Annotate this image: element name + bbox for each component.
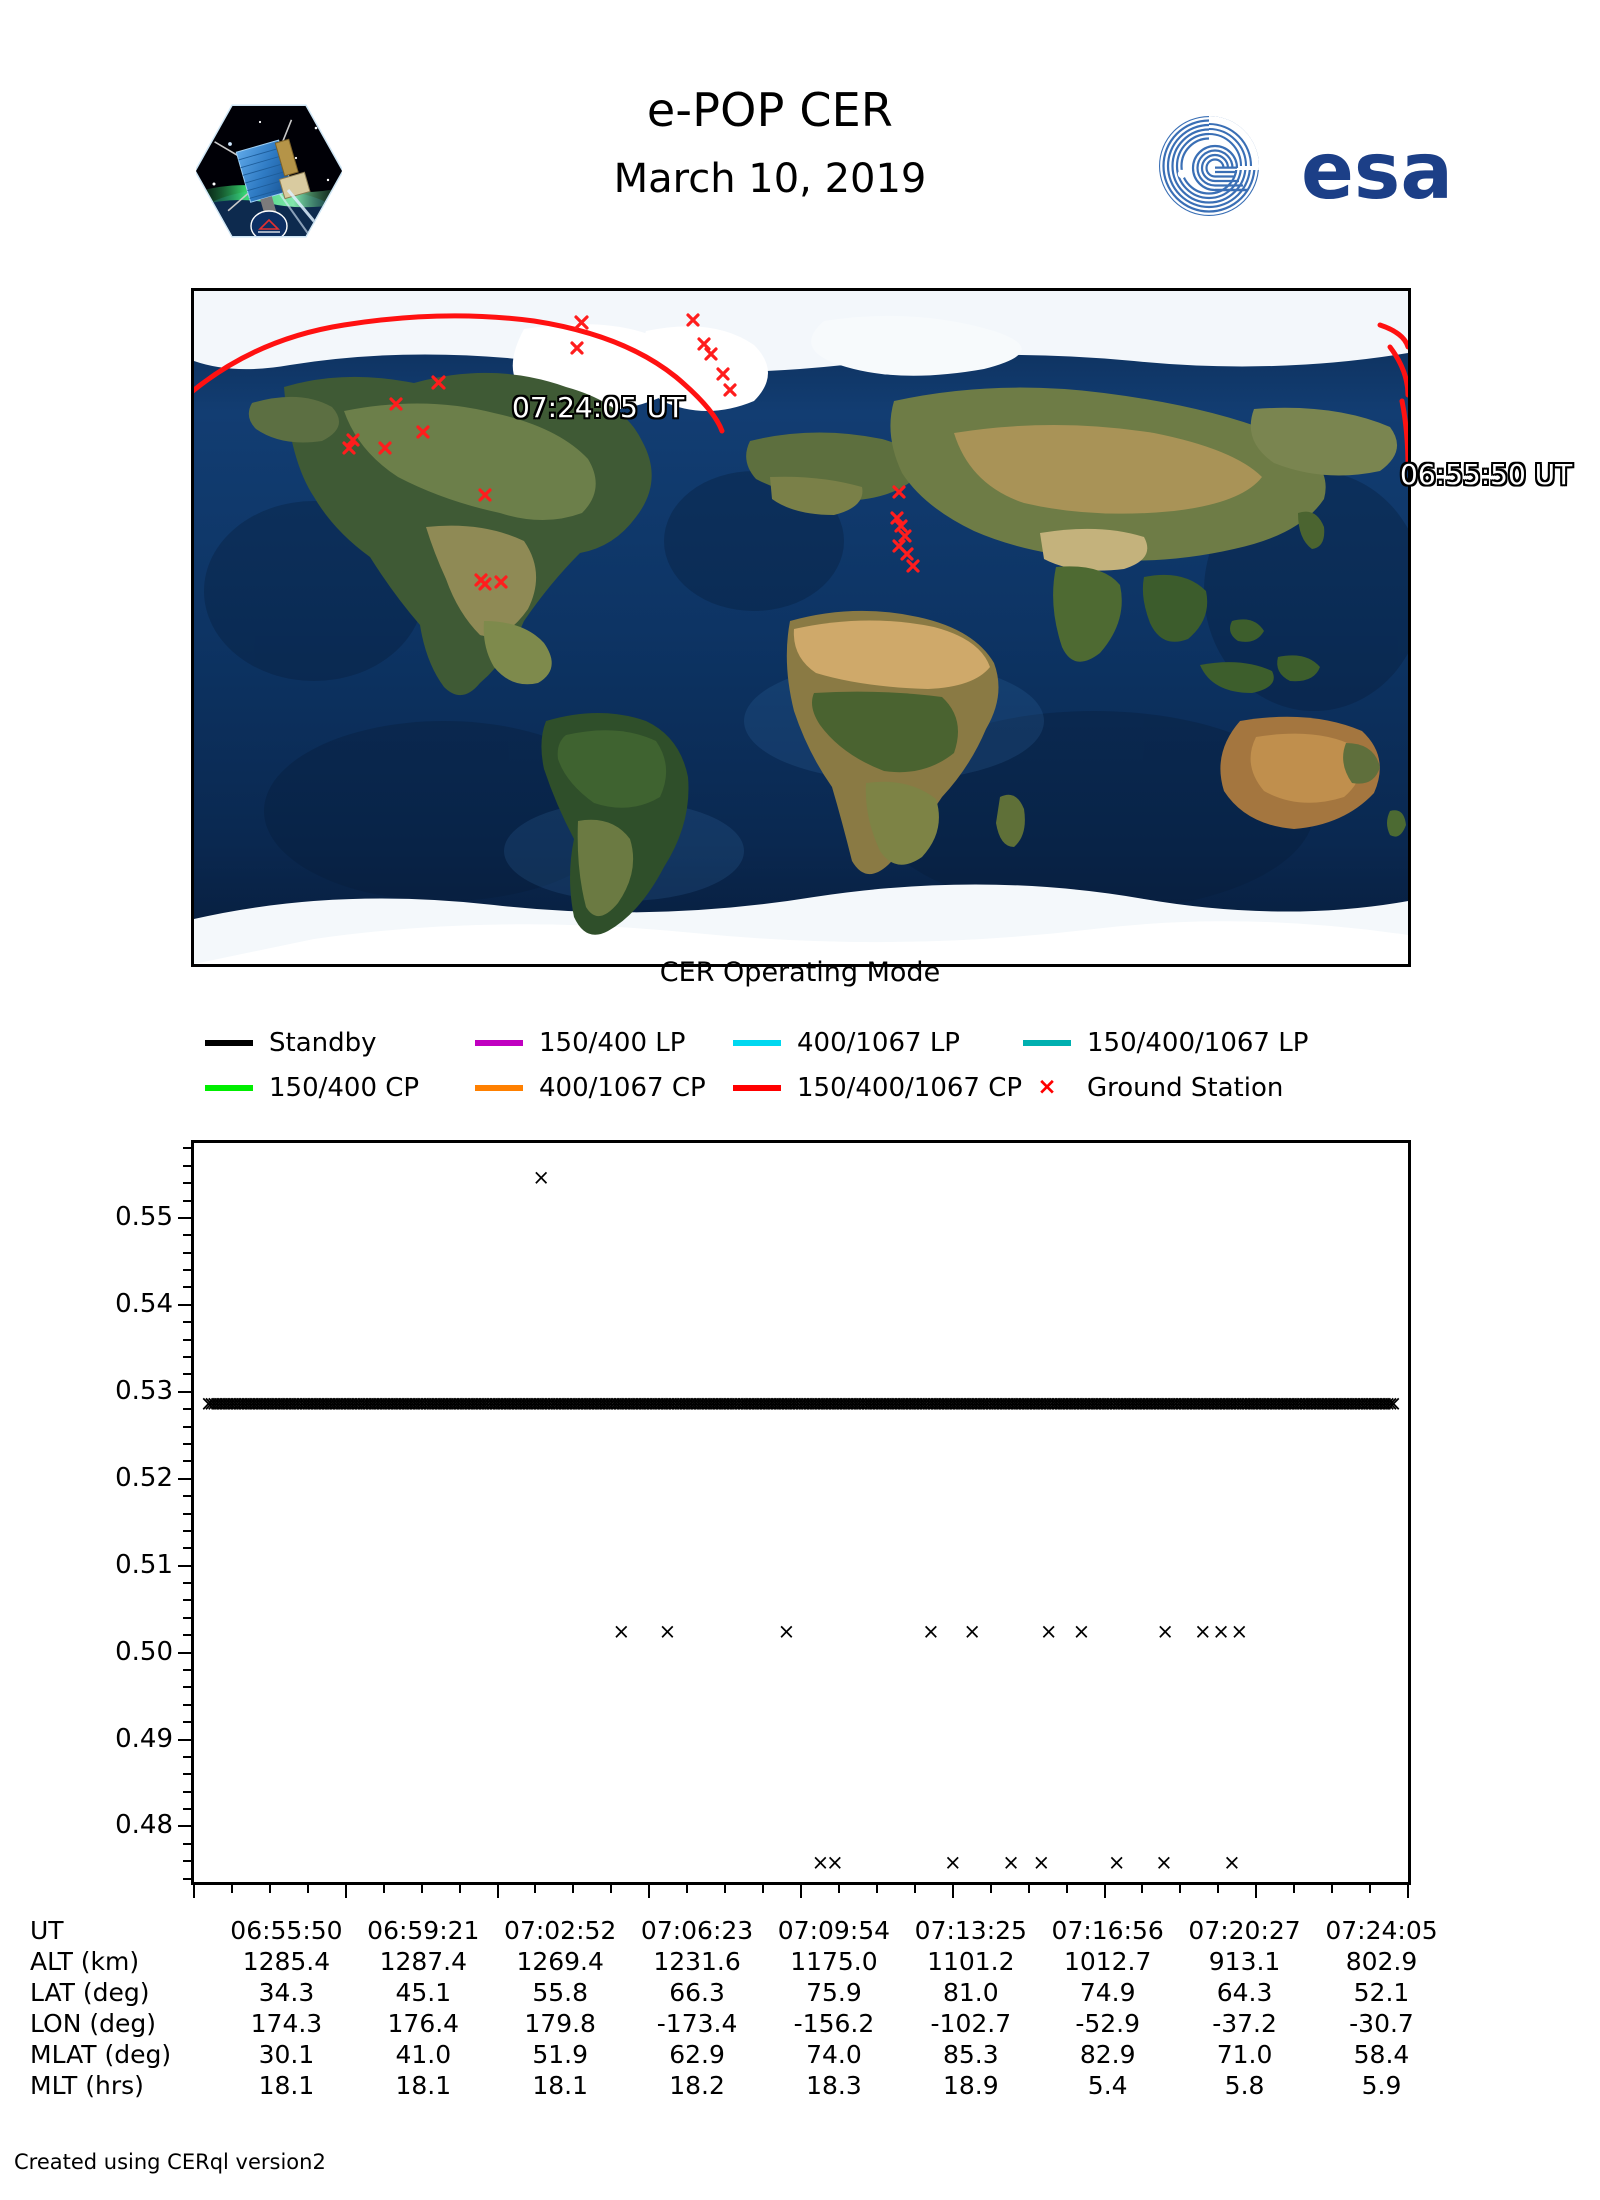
data-point-marker: × (613, 1622, 631, 1643)
legend-entry-150-400-1067-lp[interactable]: 150/400/1067 LP (1023, 1028, 1308, 1058)
x-axis-tick (648, 1885, 650, 1898)
y-axis-minor-tick (183, 1878, 191, 1880)
x-axis-minor-tick (421, 1885, 423, 1893)
table-cell: 07:16:56 (1039, 1915, 1176, 1946)
y-axis-tick-label: 0.50 (0, 1637, 173, 1667)
table-cell: -37.2 (1176, 2008, 1313, 2039)
x-axis-minor-tick (876, 1885, 878, 1893)
x-axis-tick (952, 1885, 954, 1898)
table-row-label: ALT (km) (30, 1946, 218, 1977)
table-row: MLAT (deg)30.141.051.962.974.085.382.971… (30, 2039, 1450, 2070)
y-axis-tick (178, 1391, 191, 1393)
y-axis-tick-label: 0.54 (0, 1289, 173, 1319)
legend-label-150-400-1067-cp: 150/400/1067 CP (797, 1073, 1022, 1103)
y-axis-minor-tick (183, 1286, 191, 1288)
table-cell: 58.4 (1313, 2039, 1450, 2070)
table-cell: 52.1 (1313, 1977, 1450, 2008)
table-cell: 71.0 (1176, 2039, 1313, 2070)
y-axis-minor-tick (183, 1617, 191, 1619)
table-cell: 30.1 (218, 2039, 355, 2070)
x-axis-tick (1407, 1885, 1409, 1898)
y-axis-minor-tick (183, 1756, 191, 1758)
table-cell: 07:13:25 (902, 1915, 1039, 1946)
data-point-marker: × (1212, 1622, 1230, 1643)
y-axis-minor-tick (183, 1599, 191, 1601)
table-cell: 1101.2 (902, 1946, 1039, 1977)
table-cell: 1175.0 (766, 1946, 903, 1977)
legend-entry-150-400-lp[interactable]: 150/400 LP (475, 1028, 733, 1058)
x-axis-tick (193, 1885, 195, 1898)
legend-label-150-400-1067-lp: 150/400/1067 LP (1087, 1028, 1308, 1058)
y-axis-minor-tick (183, 1321, 191, 1323)
esa-agency-logo: esa (1155, 112, 1455, 220)
legend-label-150-400-lp: 150/400 LP (539, 1028, 685, 1058)
data-point-marker: × (1040, 1622, 1058, 1643)
legend-swatch-150-400-lp (475, 1040, 523, 1046)
table-row-label: LAT (deg) (30, 1977, 218, 2008)
x-axis-minor-tick (1293, 1885, 1295, 1893)
table-cell: 1287.4 (355, 1946, 492, 1977)
table-cell: 06:55:50 (218, 1915, 355, 1946)
table-cell: -102.7 (902, 2008, 1039, 2039)
table-cell: 51.9 (492, 2039, 629, 2070)
y-axis-tick (178, 1478, 191, 1480)
operating-mode-legend: Standby 150/400 LP 400/1067 LP 150/400/1… (205, 1020, 1415, 1110)
table-cell: 75.9 (766, 1977, 903, 2008)
page-date: March 10, 2019 (430, 150, 1110, 208)
y-axis-minor-tick (183, 1530, 191, 1532)
x-axis-minor-tick (534, 1885, 536, 1893)
x-axis-minor-tick (838, 1885, 840, 1893)
table-cell: 41.0 (355, 2039, 492, 2070)
y-axis-minor-tick (183, 1426, 191, 1428)
y-axis-tick-label: 0.49 (0, 1724, 173, 1754)
y-axis-minor-tick (183, 1408, 191, 1410)
y-axis-minor-tick (183, 1669, 191, 1671)
table-cell: 82.9 (1039, 2039, 1176, 2070)
table-row: LAT (deg)34.345.155.866.375.981.074.964.… (30, 1977, 1450, 2008)
y-axis-tick (178, 1217, 191, 1219)
y-axis-minor-tick (183, 1547, 191, 1549)
map-time-label-start: 06:55:50 UT (1400, 458, 1572, 491)
table-cell: 18.1 (492, 2070, 629, 2101)
x-axis-minor-tick (459, 1885, 461, 1893)
x-axis-tick (497, 1885, 499, 1898)
table-cell: 18.1 (218, 2070, 355, 2101)
title-block: e-POP CER March 10, 2019 (430, 80, 1110, 208)
data-point-outlier: × (532, 1167, 550, 1188)
table-cell: -52.9 (1039, 2008, 1176, 2039)
data-point-marker: × (826, 1852, 844, 1873)
legend-entry-standby[interactable]: Standby (205, 1028, 475, 1058)
y-axis-tick (178, 1825, 191, 1827)
y-axis-minor-tick (183, 1860, 191, 1862)
y-axis-minor-tick (183, 1252, 191, 1254)
y-axis-minor-tick (183, 1443, 191, 1445)
y-axis-tick-label: 0.48 (0, 1810, 173, 1840)
y-axis-minor-tick (183, 1460, 191, 1462)
y-axis-minor-tick (183, 1634, 191, 1636)
table-cell: 55.8 (492, 1977, 629, 2008)
x-axis-tick (1255, 1885, 1257, 1898)
x-axis-minor-tick (383, 1885, 385, 1893)
x-axis-minor-tick (231, 1885, 233, 1893)
x-axis-minor-tick (307, 1885, 309, 1893)
table-cell: -30.7 (1313, 2008, 1450, 2039)
table-cell: 913.1 (1176, 1946, 1313, 1977)
data-point-marker: × (1002, 1852, 1020, 1873)
y-axis-minor-tick (183, 1791, 191, 1793)
table-cell: 179.8 (492, 2008, 629, 2039)
table-cell: 62.9 (629, 2039, 766, 2070)
y-axis-tick (178, 1565, 191, 1567)
table-row-label: LON (deg) (30, 2008, 218, 2039)
y-axis-minor-tick (183, 1721, 191, 1723)
table-cell: 18.3 (766, 2070, 903, 2101)
y-axis-minor-tick (183, 1165, 191, 1167)
x-axis-minor-tick (724, 1885, 726, 1893)
ephemeris-table-grid: UT06:55:5006:59:2107:02:5207:06:2307:09:… (30, 1915, 1450, 2101)
table-cell: 5.9 (1313, 2070, 1450, 2101)
x-axis-minor-tick (762, 1885, 764, 1893)
data-point-marker: × (1156, 1622, 1174, 1643)
table-row: MLT (hrs)18.118.118.118.218.318.95.45.85… (30, 2070, 1450, 2101)
table-cell: 18.1 (355, 2070, 492, 2101)
table-cell: 176.4 (355, 2008, 492, 2039)
table-cell: 81.0 (902, 1977, 1039, 2008)
x-axis-minor-tick (1331, 1885, 1333, 1893)
table-row: LON (deg)174.3176.4179.8-173.4-156.2-102… (30, 2008, 1450, 2039)
ground-station-marker-icon: × (1023, 1076, 1071, 1099)
y-axis-tick-label: 0.55 (0, 1202, 173, 1232)
table-cell: 06:59:21 (355, 1915, 492, 1946)
legend-swatch-400-1067-cp (475, 1085, 523, 1091)
table-cell: 66.3 (629, 1977, 766, 2008)
table-row-label: MLAT (deg) (30, 2039, 218, 2070)
table-row: UT06:55:5006:59:2107:02:5207:06:2307:09:… (30, 1915, 1450, 1946)
legend-swatch-400-1067-lp (733, 1040, 781, 1046)
page-title: e-POP CER (430, 80, 1110, 140)
data-point-marker: × (1033, 1852, 1051, 1873)
data-point-baseline: × (1385, 1393, 1403, 1414)
y-axis-minor-tick (183, 1773, 191, 1775)
data-point-marker: × (1223, 1852, 1241, 1873)
table-cell: 64.3 (1176, 1977, 1313, 2008)
x-axis-minor-tick (990, 1885, 992, 1893)
y-axis-tick-label: 0.52 (0, 1463, 173, 1493)
legend-entry-ground-station[interactable]: × Ground Station (1023, 1073, 1283, 1103)
x-axis-minor-tick (686, 1885, 688, 1893)
legend-entry-400-1067-cp[interactable]: 400/1067 CP (475, 1073, 733, 1103)
table-cell: 07:20:27 (1176, 1915, 1313, 1946)
table-cell: 802.9 (1313, 1946, 1450, 1977)
y-axis-minor-tick (183, 1356, 191, 1358)
table-cell: 174.3 (218, 2008, 355, 2039)
y-axis-minor-tick (183, 1269, 191, 1271)
y-axis-tick-label: 0.51 (0, 1550, 173, 1580)
y-axis-minor-tick (183, 1582, 191, 1584)
x-axis-minor-tick (1028, 1885, 1030, 1893)
data-point-marker: × (922, 1622, 940, 1643)
table-cell: -173.4 (629, 2008, 766, 2039)
y-axis-minor-tick (183, 1147, 191, 1149)
y-axis-minor-tick (183, 1843, 191, 1845)
table-cell: 1269.4 (492, 1946, 629, 1977)
legend-label-400-1067-lp: 400/1067 LP (797, 1028, 960, 1058)
data-point-marker: × (963, 1622, 981, 1643)
data-point-marker: × (1155, 1852, 1173, 1873)
data-point-marker: × (1230, 1622, 1248, 1643)
x-axis-minor-tick (572, 1885, 574, 1893)
table-cell: 45.1 (355, 1977, 492, 2008)
x-axis-minor-tick (269, 1885, 271, 1893)
y-axis-minor-tick (183, 1704, 191, 1706)
legend-label-150-400-cp: 150/400 CP (269, 1073, 419, 1103)
legend-row-1: Standby 150/400 LP 400/1067 LP 150/400/1… (205, 1020, 1415, 1065)
table-cell: 34.3 (218, 1977, 355, 2008)
legend-entry-150-400-cp[interactable]: 150/400 CP (205, 1073, 475, 1103)
ephemeris-table: UT06:55:5006:59:2107:02:5207:06:2307:09:… (30, 1915, 1590, 2101)
legend-swatch-150-400-cp (205, 1085, 253, 1091)
ground-track-world-map[interactable]: 07:24:05 UT 06:55:50 UT (191, 288, 1411, 967)
table-cell: -156.2 (766, 2008, 903, 2039)
y-axis-tick (178, 1652, 191, 1654)
table-row: ALT (km)1285.41287.41269.41231.61175.011… (30, 1946, 1450, 1977)
y-axis-minor-tick (183, 1339, 191, 1341)
y-axis-tick (178, 1304, 191, 1306)
legend-entry-400-1067-lp[interactable]: 400/1067 LP (733, 1028, 1023, 1058)
plot-data-area: ××××××××××××××××××××××××××××××××××××××××… (194, 1143, 1408, 1882)
y-axis-minor-tick (183, 1686, 191, 1688)
x-axis-tick (800, 1885, 802, 1898)
table-cell: 07:02:52 (492, 1915, 629, 1946)
table-cell: 74.9 (1039, 1977, 1176, 2008)
data-point-marker: × (1108, 1852, 1126, 1873)
plot-frame: ××××××××××××××××××××××××××××××××××××××××… (191, 1140, 1411, 1885)
x-axis-minor-tick (1066, 1885, 1068, 1893)
table-cell: 18.9 (902, 2070, 1039, 2101)
x-axis-minor-tick (610, 1885, 612, 1893)
table-cell: 07:24:05 (1313, 1915, 1450, 1946)
x-axis-tick (345, 1885, 347, 1898)
y-axis-tick (178, 1739, 191, 1741)
legend-row-2: 150/400 CP 400/1067 CP 150/400/1067 CP ×… (205, 1065, 1415, 1110)
table-row-label: MLT (hrs) (30, 2070, 218, 2101)
legend-title: CER Operating Mode (0, 957, 1600, 988)
table-cell: 5.8 (1176, 2070, 1313, 2101)
table-row-label: UT (30, 1915, 218, 1946)
data-point-marker: × (1194, 1622, 1212, 1643)
x-axis-minor-tick (914, 1885, 916, 1893)
table-cell: 85.3 (902, 2039, 1039, 2070)
table-cell: 74.0 (766, 2039, 903, 2070)
table-cell: 5.4 (1039, 2070, 1176, 2101)
data-point-marker: × (778, 1622, 796, 1643)
x-axis-minor-tick (1217, 1885, 1219, 1893)
footer-credit: Created using CERql version2 (14, 2150, 326, 2174)
table-cell: 1285.4 (218, 1946, 355, 1977)
legend-swatch-150-400-1067-cp (733, 1085, 781, 1091)
cer-current-plot[interactable]: CER Current (A) ××××××××××××××××××××××××… (191, 1140, 1411, 1885)
y-axis-tick-label: 0.53 (0, 1376, 173, 1406)
table-cell: 18.2 (629, 2070, 766, 2101)
data-point-marker: × (944, 1852, 962, 1873)
legend-swatch-standby (205, 1040, 253, 1046)
y-axis-minor-tick (183, 1495, 191, 1497)
y-axis-minor-tick (183, 1234, 191, 1236)
map-canvas (194, 291, 1408, 964)
legend-label-ground-station: Ground Station (1087, 1073, 1283, 1103)
x-axis-tick (1104, 1885, 1106, 1898)
data-point-marker: × (659, 1622, 677, 1643)
legend-label-400-1067-cp: 400/1067 CP (539, 1073, 706, 1103)
x-axis-minor-tick (1179, 1885, 1181, 1893)
table-cell: 07:09:54 (766, 1915, 903, 1946)
cassiope-mission-logo (196, 98, 342, 244)
y-axis-minor-tick (183, 1808, 191, 1810)
data-point-marker: × (1073, 1622, 1091, 1643)
legend-label-standby: Standby (269, 1028, 377, 1058)
y-axis-minor-tick (183, 1182, 191, 1184)
esa-logo-wordmark: esa (1301, 127, 1453, 217)
legend-swatch-150-400-1067-lp (1023, 1040, 1071, 1046)
table-cell: 1012.7 (1039, 1946, 1176, 1977)
y-axis-minor-tick (183, 1200, 191, 1202)
y-axis-minor-tick (183, 1373, 191, 1375)
y-axis-minor-tick (183, 1513, 191, 1515)
table-cell: 07:06:23 (629, 1915, 766, 1946)
table-cell: 1231.6 (629, 1946, 766, 1977)
x-axis-minor-tick (1369, 1885, 1371, 1893)
x-axis-minor-tick (1141, 1885, 1143, 1893)
page-header: e-POP CER March 10, 2019 (0, 0, 1600, 270)
legend-entry-150-400-1067-cp[interactable]: 150/400/1067 CP (733, 1073, 1023, 1103)
